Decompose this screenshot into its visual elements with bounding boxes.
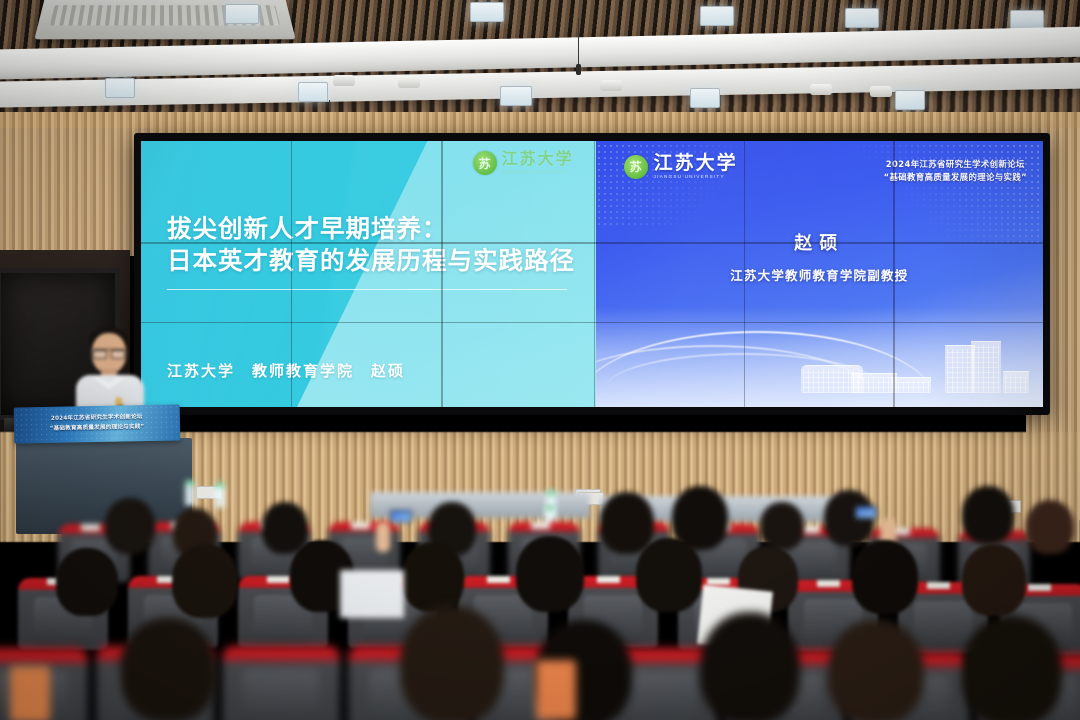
audience-head [700, 612, 800, 720]
video-wall-display[interactable]: 苏 江苏大学 JIANGSU UNIVERSITY 拔尖创新人才早期培养： 日本… [141, 141, 1043, 407]
forum-title-line2: “基础教育高质量发展的理论与实践” [884, 171, 1027, 184]
ceiling-light-panel [895, 90, 925, 110]
smartphone[interactable] [390, 510, 412, 523]
hanging-microphone [576, 64, 581, 75]
audience-head [962, 616, 1062, 720]
orange-object [536, 660, 576, 720]
university-seal-icon: 苏 [473, 151, 497, 175]
wall-left-upper [0, 128, 152, 256]
ceiling-spot-fixture [870, 86, 892, 97]
ceiling-spot-fixture [333, 75, 355, 86]
water-bottle [185, 480, 195, 506]
slide-right-blue: 苏 江苏大学 JIANGSU UNIVERSITY 2024年江苏省研究生学术创… [596, 141, 1043, 407]
university-name-cn: 江苏大学 [654, 154, 738, 173]
university-seal-icon: 苏 [624, 155, 648, 179]
water-bottle [215, 482, 225, 508]
speaker-title: 江苏大学教师教育学院副教授 [596, 265, 1043, 284]
podium-banner: 2024年江苏省研究生学术创新论坛 “基础教育高质量发展的理论与实践” [14, 404, 181, 443]
ceiling-spot-fixture [398, 77, 420, 88]
audience-head [962, 486, 1014, 544]
smartphone[interactable] [855, 506, 877, 519]
ceiling-light-panel [690, 88, 720, 108]
speaker-name: 赵硕 [596, 229, 1043, 255]
audience-area [0, 470, 1080, 720]
lecture-hall-scene: 苏 江苏大学 JIANGSU UNIVERSITY 拔尖创新人才早期培养： 日本… [0, 0, 1080, 720]
seat[interactable] [222, 646, 340, 720]
audience-head [516, 536, 584, 612]
university-logo-cyan: 苏 江苏大学 JIANGSU UNIVERSITY [473, 151, 574, 175]
ceiling-light-panel [105, 78, 135, 98]
campus-building [945, 345, 975, 393]
slide-footer-affiliation: 江苏大学 教师教育学院 赵硕 [167, 360, 405, 381]
podium-banner-line2: “基础教育高质量发展的理论与实践” [14, 422, 180, 435]
audience-head [962, 544, 1026, 616]
orange-object [10, 666, 50, 720]
ceiling-light-panel [700, 6, 734, 26]
audience-head [56, 548, 118, 616]
audience-head [760, 502, 804, 550]
ceiling-light-panel [500, 86, 532, 106]
video-wall-frame: 苏 江苏大学 JIANGSU UNIVERSITY 拔尖创新人才早期培养： 日本… [134, 133, 1050, 415]
hanging-mic-wire [578, 18, 579, 66]
audience-head [105, 498, 155, 554]
laptop-screen[interactable] [340, 570, 404, 618]
forum-title-line1: 2024年江苏省研究生学术创新论坛 [884, 158, 1027, 171]
campus-skyline-graphic [596, 307, 1043, 407]
glasses-icon [93, 349, 125, 356]
ceiling-spot-fixture [810, 84, 832, 95]
audience-head [852, 540, 918, 614]
ceiling-spot-fixture [600, 80, 622, 91]
ceiling-light-panel [845, 8, 879, 28]
slide-title-line1: 拔尖创新人才早期培养： [167, 213, 585, 245]
audience-head [120, 618, 216, 720]
slide-divider [167, 289, 567, 290]
audience-head [600, 492, 654, 554]
audience-head [636, 538, 702, 612]
ceiling-light-panel [225, 4, 259, 24]
ceiling-light-panel [470, 2, 504, 22]
forum-header: 2024年江苏省研究生学术创新论坛 “基础教育高质量发展的理论与实践” [884, 158, 1027, 184]
raised-hand [376, 522, 390, 552]
university-name-en: JIANGSU UNIVERSITY [654, 175, 738, 180]
slide-title: 拔尖创新人才早期培养： 日本英才教育的发展历程与实践路径 [167, 213, 585, 278]
audience-head [828, 620, 924, 720]
slide-title-line2: 日本英才教育的发展历程与实践路径 [167, 245, 585, 277]
campus-building [971, 341, 1001, 393]
university-name-cn: 江苏大学 [502, 152, 574, 168]
audience-head [172, 544, 238, 618]
slide-left-cyan: 苏 江苏大学 JIANGSU UNIVERSITY 拔尖创新人才早期培养： 日本… [141, 141, 596, 407]
audience-head [1026, 500, 1074, 554]
campus-building [851, 373, 897, 393]
university-logo-blue: 苏 江苏大学 JIANGSU UNIVERSITY [624, 154, 738, 180]
audience-head [400, 606, 504, 720]
ceiling-light-panel [298, 82, 328, 102]
campus-building [1003, 371, 1029, 393]
audience-head [402, 542, 464, 612]
campus-building [891, 377, 931, 393]
university-name-en: JIANGSU UNIVERSITY [502, 170, 574, 174]
